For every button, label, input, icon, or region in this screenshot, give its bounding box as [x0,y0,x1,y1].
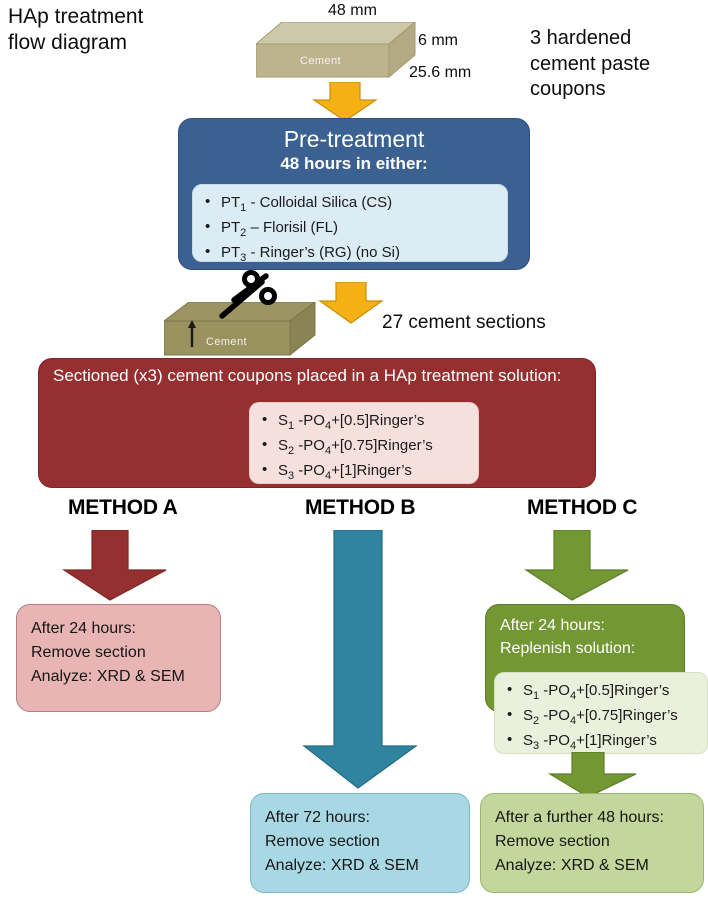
cement-coupon-block: Cement [256,22,416,78]
method-c-solutions-panel: S1 -PO4+[0.5]Ringer’s S2 -PO4+[0.75]Ring… [494,672,708,754]
solution-text-2: +[0.5]Ringer’s [331,412,424,429]
pretreatment-options-list: PT1 - Colloidal Silica (CS) PT2 – Floris… [203,192,497,267]
pretreatment-title: Pre-treatment [179,119,529,153]
list-item: S3 -PO4+[1]Ringer’s [260,460,468,485]
page-title: HAp treatment flow diagram [8,4,208,55]
method-b-result-text: After 72 hours: Remove section Analyze: … [251,794,469,878]
option-text: - Colloidal Silica (CS) [246,194,392,211]
method-a-result-box: After 24 hours: Remove section Analyze: … [16,604,221,712]
solution-text: -PO [539,682,570,699]
solution-text-2: +[0.75]Ringer’s [576,707,678,724]
solution-text: -PO [539,732,570,749]
dimension-length-label: 48 mm [328,2,377,20]
solution-text-2: +[1]Ringer’s [331,462,412,479]
method-a-result-text: After 24 hours: Remove section Analyze: … [17,605,220,689]
solution-code: S [278,462,288,479]
flow-diagram-canvas: HAp treatment flow diagram 48 mm 6 mm 25… [0,0,708,900]
hap-treatment-title: Sectioned (x3) cement coupons placed in … [39,359,595,386]
cement-block-label: Cement [300,55,341,67]
solution-text: -PO [294,437,325,454]
list-item: S2 -PO4+[0.75]Ringer’s [505,705,697,730]
coupon-count-note: 3 hardened cement paste coupons [530,26,705,103]
solution-text-2: +[0.75]Ringer’s [331,437,433,454]
solution-text: -PO [294,412,325,429]
pretreatment-subtitle: 48 hours in either: [179,153,529,174]
method-c-label: METHOD C [527,496,637,520]
list-item: PT2 – Florisil (FL) [203,217,497,242]
pretreatment-options-panel: PT1 - Colloidal Silica (CS) PT2 – Floris… [192,184,508,262]
method-b-label: METHOD B [305,496,415,520]
list-item: PT3 - Ringer’s (RG) (no Si) [203,242,497,267]
arrow-method-a [62,530,170,602]
arrow-pretreatment-to-sections [318,282,384,324]
solution-code: S [523,732,533,749]
list-item: PT1 - Colloidal Silica (CS) [203,192,497,217]
solution-code: S [278,412,288,429]
list-item: S1 -PO4+[0.5]Ringer’s [260,410,468,435]
method-b-result-box: After 72 hours: Remove section Analyze: … [250,793,470,893]
dimension-width-label: 25.6 mm [409,64,471,82]
arrow-method-c-step1 [524,530,632,602]
sections-count-label: 27 cement sections [382,312,546,334]
option-code: PT [221,219,240,236]
option-code: PT [221,194,240,211]
arrow-method-c-step2 [548,752,640,798]
method-c-result-box: After a further 48 hours: Remove section… [480,793,704,893]
scissors-icon [204,270,286,322]
solution-text: -PO [539,707,570,724]
method-c-step-head: After 24 hours: Replenish solution: [486,605,684,660]
list-item: S2 -PO4+[0.75]Ringer’s [260,435,468,460]
arrow-coupon-to-pretreatment [312,82,378,122]
solution-text: -PO [294,462,325,479]
arrow-method-b [302,530,422,792]
option-code: PT [221,244,240,261]
hap-solutions-panel: S1 -PO4+[0.5]Ringer’s S2 -PO4+[0.75]Ring… [249,402,479,484]
sectioned-block-label: Cement [206,336,247,348]
option-text: – Florisil (FL) [246,219,338,236]
method-a-label: METHOD A [68,496,178,520]
dimension-thickness-label: 6 mm [418,32,458,50]
solution-text-2: +[1]Ringer’s [576,732,657,749]
solution-code: S [278,437,288,454]
method-c-result-text: After a further 48 hours: Remove section… [481,794,703,878]
option-text: - Ringer’s (RG) (no Si) [246,244,400,261]
solution-text-2: +[0.5]Ringer’s [576,682,669,699]
list-item: S1 -PO4+[0.5]Ringer’s [505,680,697,705]
hap-solutions-list: S1 -PO4+[0.5]Ringer’s S2 -PO4+[0.75]Ring… [260,410,468,485]
solution-code: S [523,707,533,724]
method-c-solutions-list: S1 -PO4+[0.5]Ringer’s S2 -PO4+[0.75]Ring… [505,680,697,755]
solution-code: S [523,682,533,699]
cement-block-3d-shape [256,22,416,78]
